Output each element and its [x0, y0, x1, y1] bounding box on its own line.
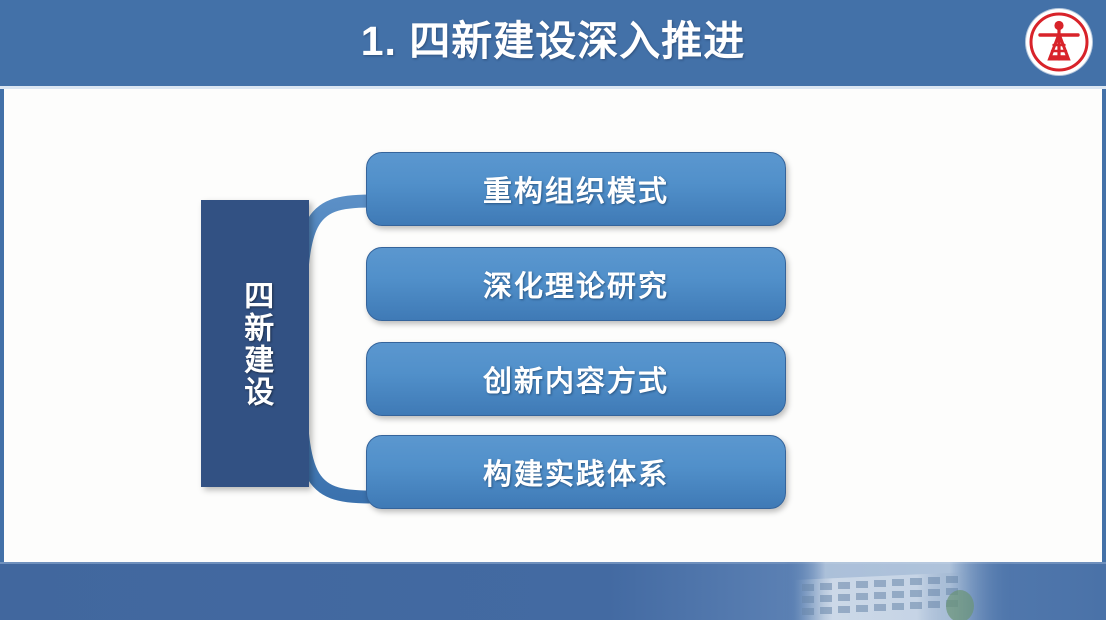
slide-header: 1. 四新建设深入推进: [0, 0, 1106, 86]
university-logo: [1026, 9, 1092, 75]
root-node[interactable]: 四新建设: [201, 200, 309, 487]
diagram-item-label: 创新内容方式: [367, 343, 785, 415]
page-title: 1. 四新建设深入推进: [0, 0, 1106, 86]
root-node-label: 四新建设: [201, 200, 309, 487]
diagram-item-label: 重构组织模式: [367, 153, 785, 225]
ministry-building-photo: [784, 562, 1014, 620]
diagram-item-4[interactable]: 构建实践体系: [366, 435, 786, 509]
slide-footer: 中华人民共和国教育部 Ministry of Education of the …: [0, 562, 1106, 620]
slide: 1. 四新建设深入推进: [0, 0, 1106, 620]
diagram-item-label: 深化理论研究: [367, 248, 785, 320]
diagram-item-2[interactable]: 深化理论研究: [366, 247, 786, 321]
diagram-item-3[interactable]: 创新内容方式: [366, 342, 786, 416]
diagram-item-1[interactable]: 重构组织模式: [366, 152, 786, 226]
diagram-canvas: 四新建设 重构组织模式 深化理论研究 创新内容方式 构建实践体系: [0, 89, 1106, 559]
diagram-item-label: 构建实践体系: [367, 436, 785, 508]
